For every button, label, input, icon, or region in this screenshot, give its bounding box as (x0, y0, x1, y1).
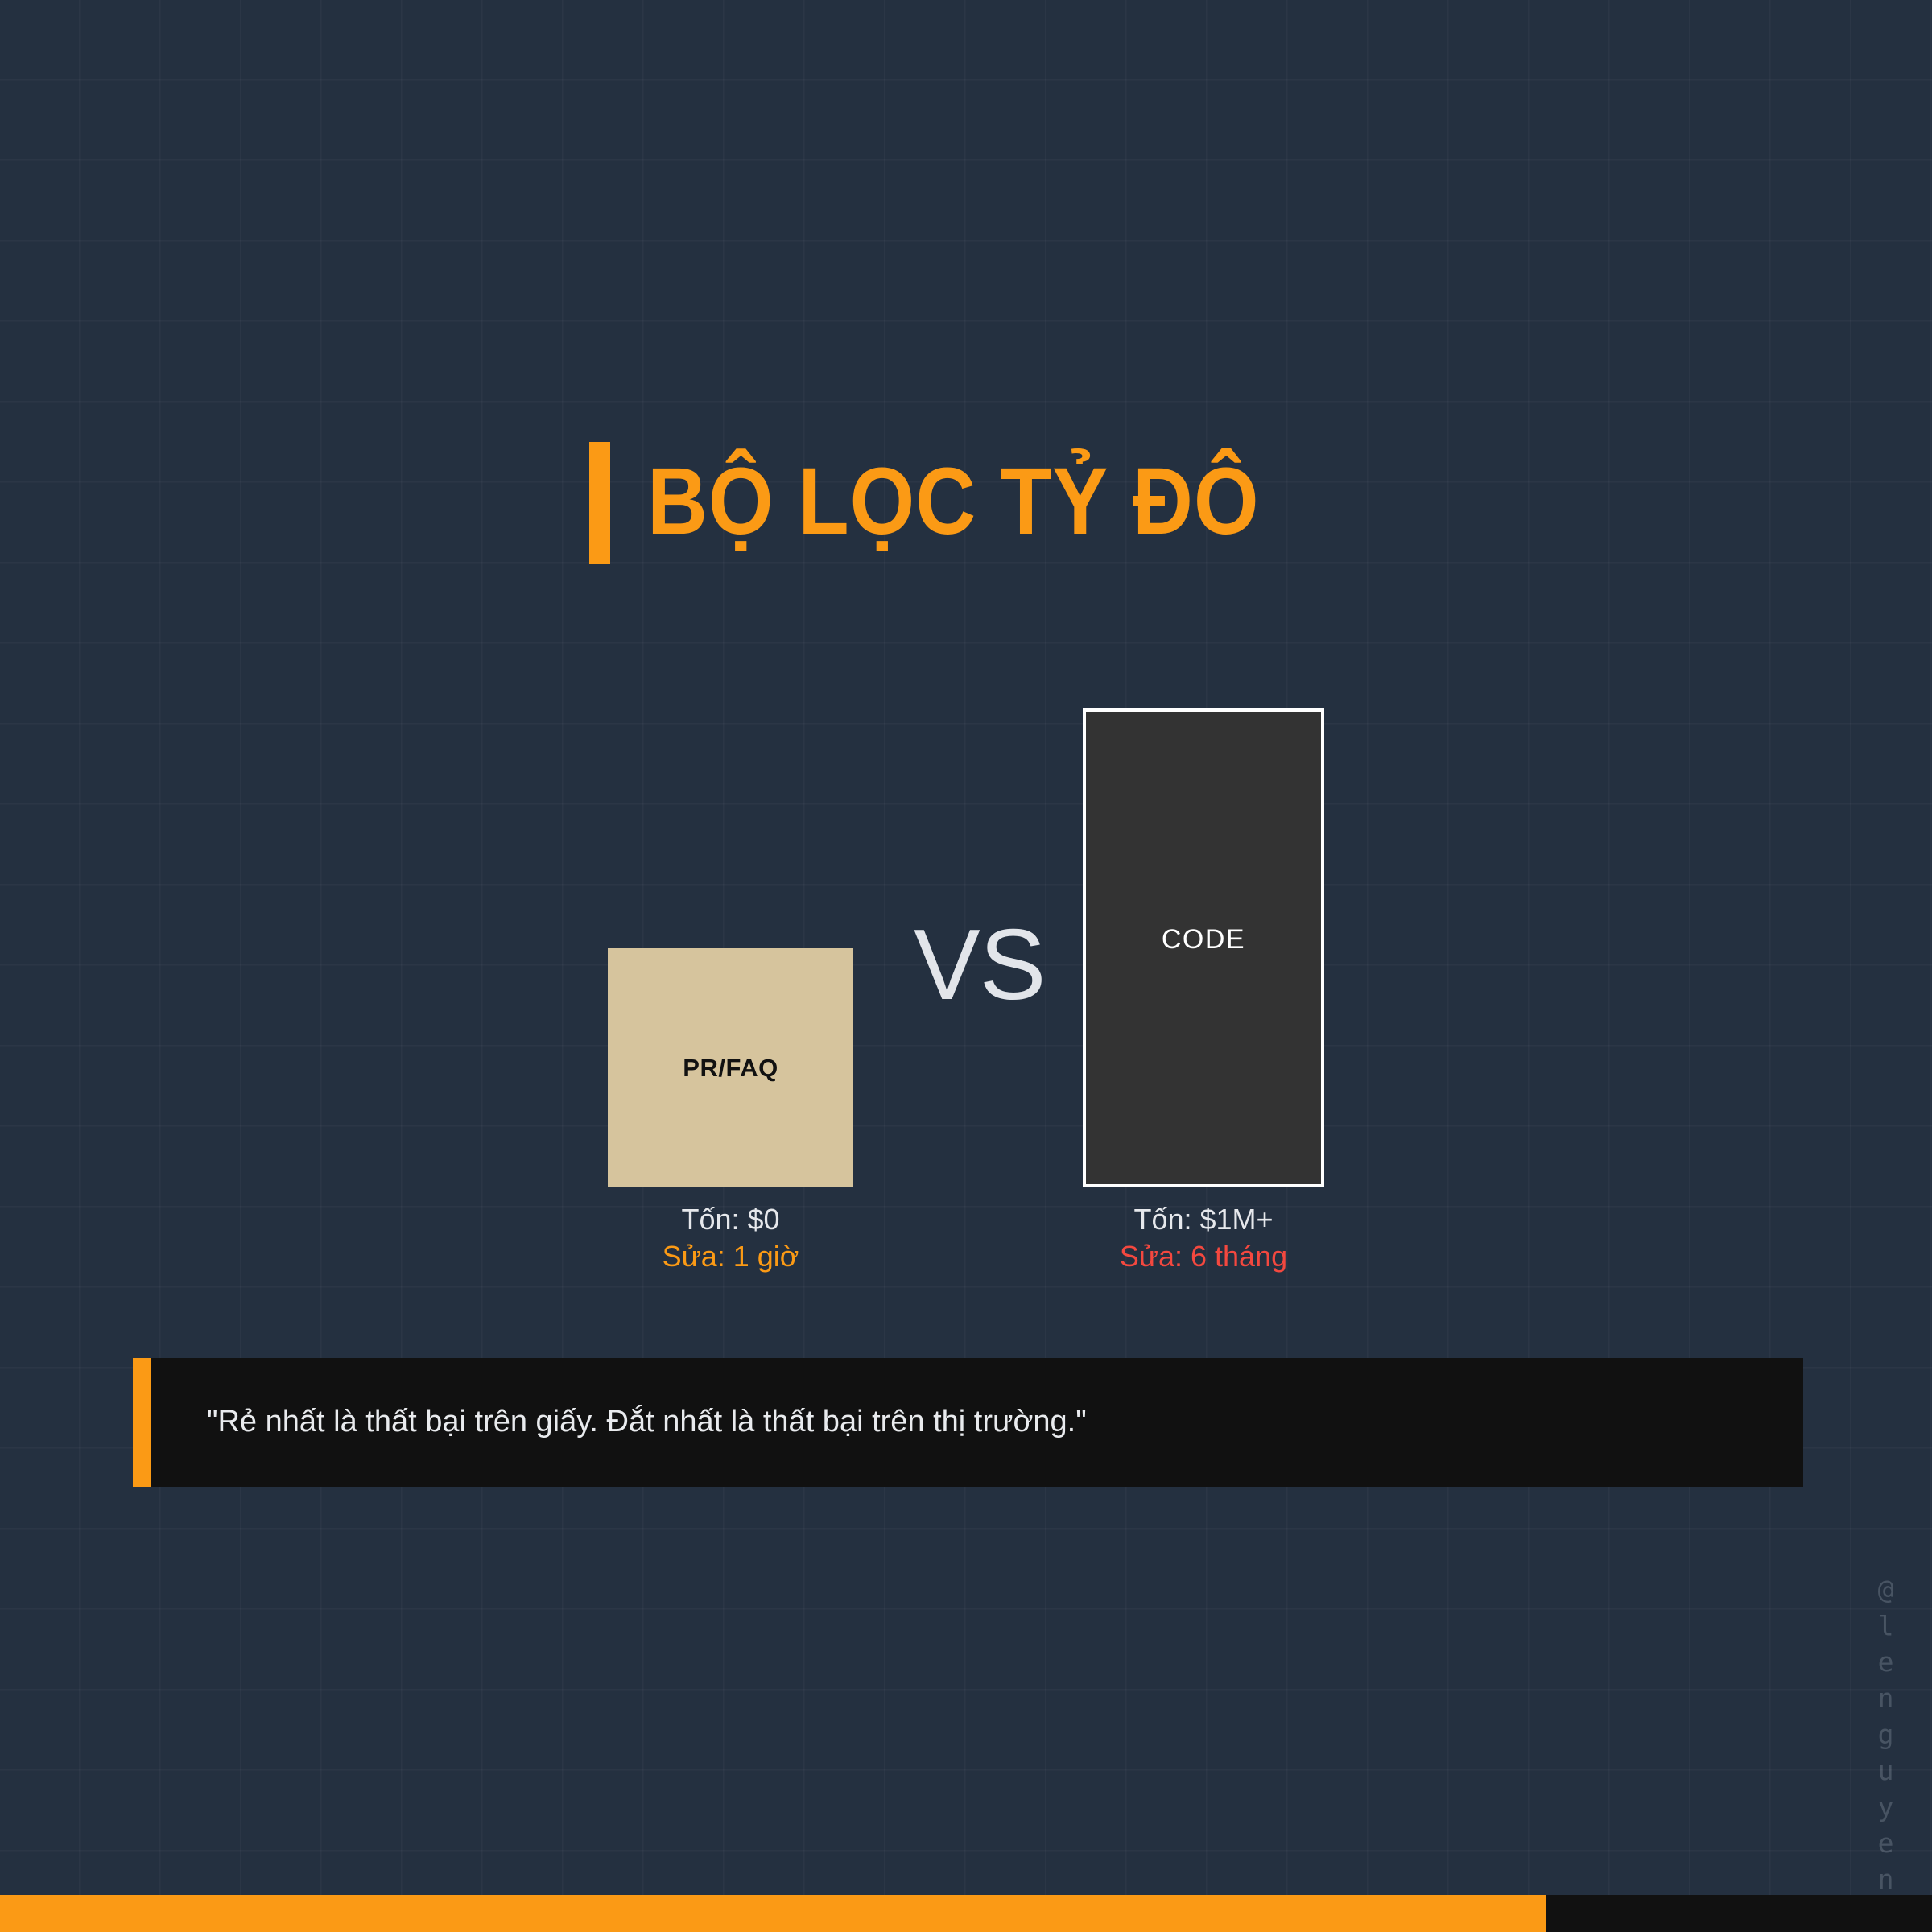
title-accent-bar (589, 442, 610, 564)
stat-fixtime-code: Sửa: 6 tháng (1083, 1238, 1324, 1275)
progress-bar-fill (0, 1895, 1546, 1932)
infographic-canvas: BỘ LỌC TỶ ĐÔ PR/FAQ VS CODE Tốn: $0 Sửa:… (0, 0, 1932, 1932)
stat-fixtime-prfaq: Sửa: 1 giờ (608, 1238, 853, 1275)
stat-cost-code: Tốn: $1M+ (1083, 1201, 1324, 1238)
stat-cost-prfaq: Tốn: $0 (608, 1201, 853, 1238)
progress-bar-track (0, 1895, 1932, 1932)
bar-label-code: CODE (1162, 924, 1245, 956)
vs-separator-label: VS (914, 908, 1045, 1022)
bar-code: CODE (1083, 708, 1324, 1187)
bar-column-prfaq: PR/FAQ (608, 948, 853, 1187)
comparison-chart: PR/FAQ VS CODE (0, 688, 1932, 1187)
quote-banner: "Rẻ nhất là thất bại trên giấy. Đắt nhất… (133, 1358, 1803, 1487)
watermark-handle: @lenguyen.codeai (1870, 1574, 1901, 1932)
title-text: BỘ LỌC TỶ ĐÔ (647, 454, 1260, 549)
bar-prfaq: PR/FAQ (608, 948, 853, 1187)
bar-label-prfaq: PR/FAQ (683, 1054, 778, 1083)
bar-column-code: CODE (1083, 708, 1324, 1187)
quote-accent-bar (133, 1358, 151, 1487)
quote-text: "Rẻ nhất là thất bại trên giấy. Đắt nhất… (151, 1403, 1087, 1442)
stats-prfaq: Tốn: $0 Sửa: 1 giờ (608, 1201, 853, 1275)
stats-code: Tốn: $1M+ Sửa: 6 tháng (1083, 1201, 1324, 1275)
page-title: BỘ LỌC TỶ ĐÔ (0, 439, 1932, 564)
